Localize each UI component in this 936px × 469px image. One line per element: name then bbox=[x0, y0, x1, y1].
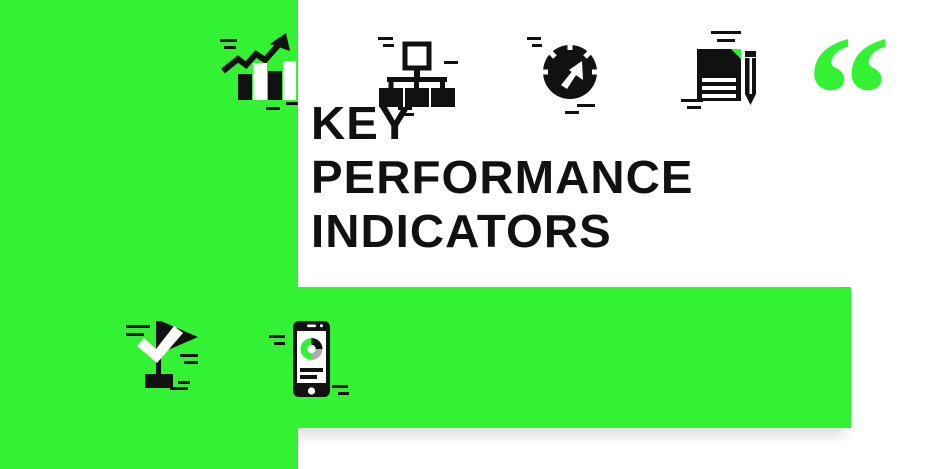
gauge-speedometer-icon bbox=[527, 23, 613, 119]
title-line-3: INDICATORS bbox=[311, 204, 795, 258]
quote-open-icon: “ bbox=[806, 10, 902, 120]
document-pencil-icon bbox=[681, 23, 767, 119]
growth-bar-chart-icon bbox=[220, 23, 306, 119]
org-hierarchy-icon bbox=[374, 23, 460, 119]
icon-row bbox=[220, 0, 773, 141]
slide-canvas: KEY PERFORMANCE INDICATORS “ bbox=[0, 0, 936, 469]
flag-checkmark-icon bbox=[126, 311, 212, 407]
mobile-analytics-icon bbox=[268, 311, 354, 407]
title-line-2: PERFORMANCE bbox=[311, 150, 795, 204]
